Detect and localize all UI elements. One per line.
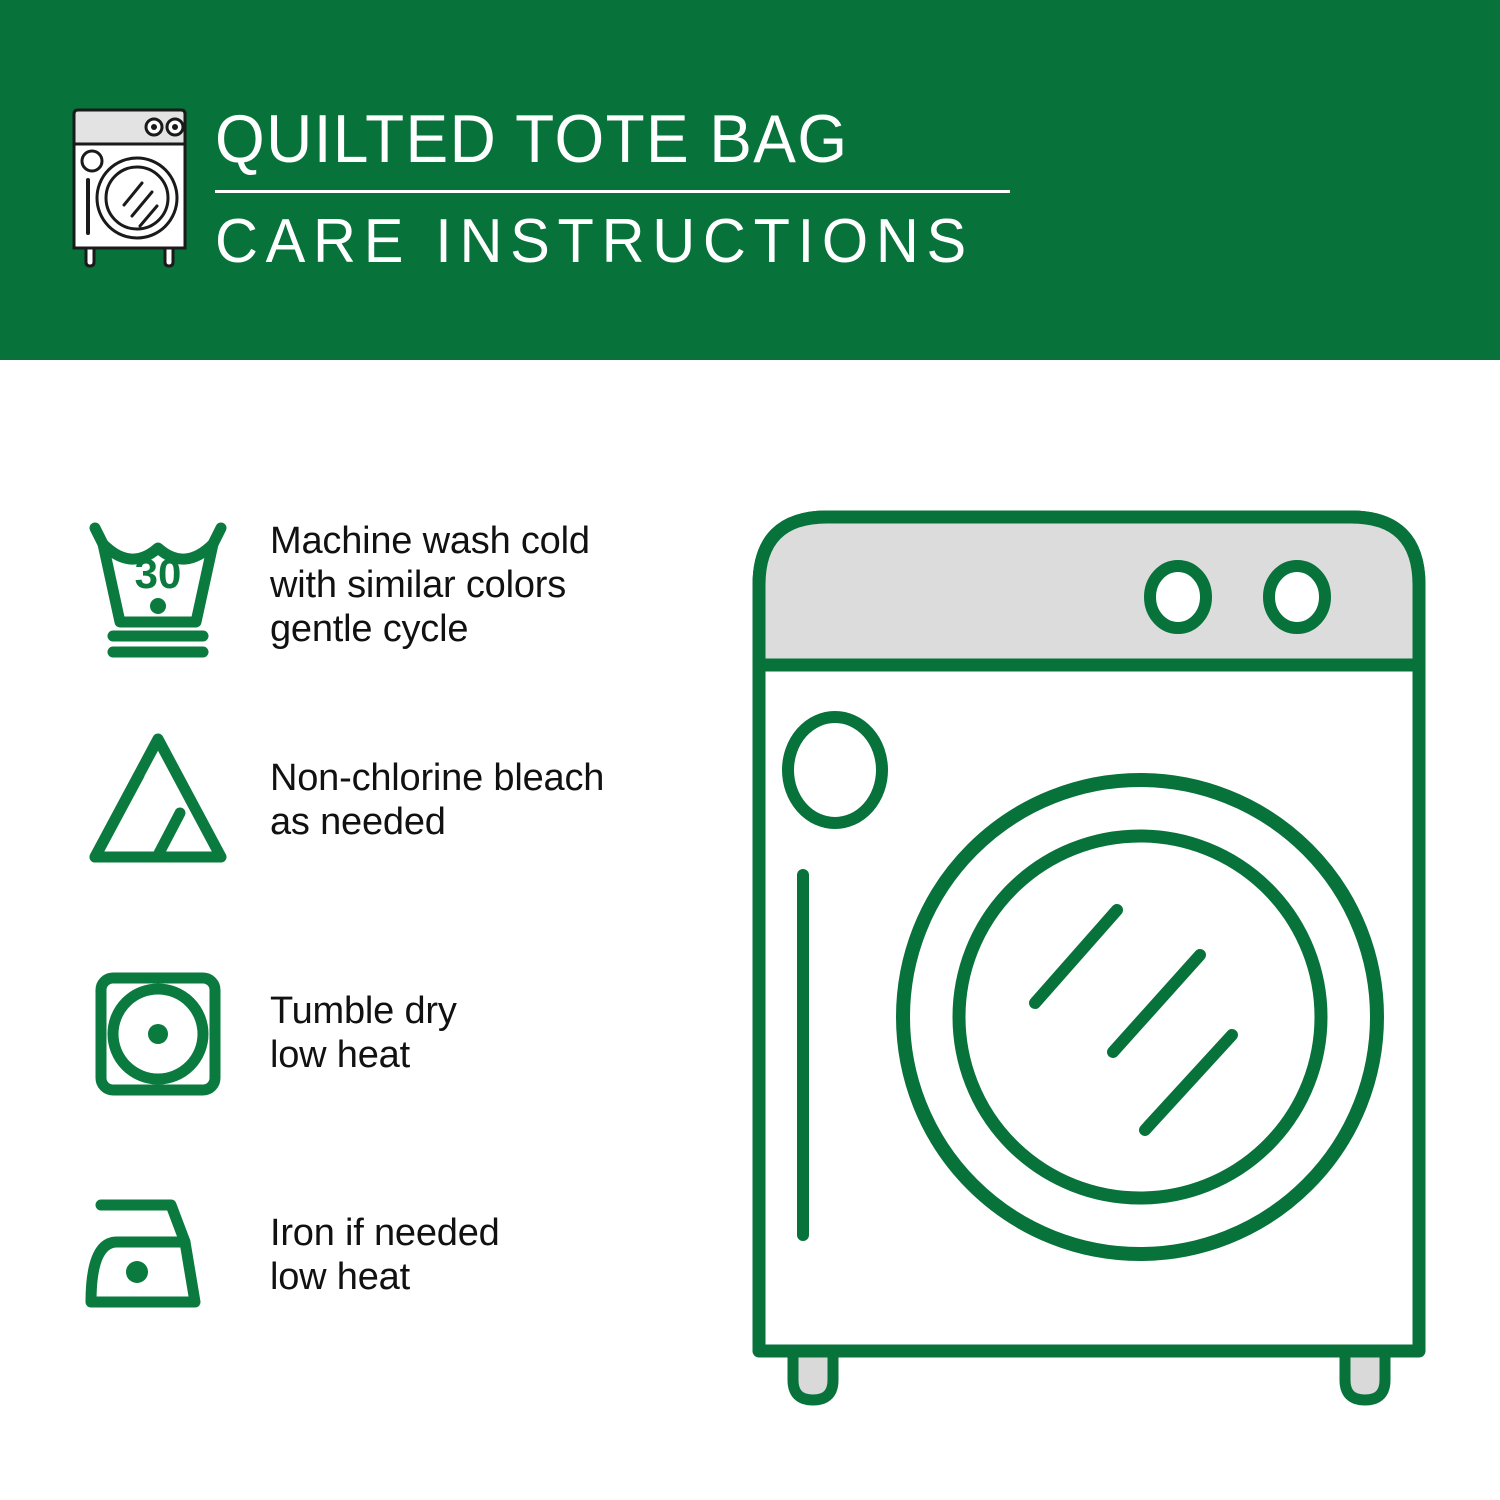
washing-machine-icon bbox=[62, 108, 197, 268]
title-divider bbox=[215, 190, 1010, 193]
machine-knob-2 bbox=[1269, 566, 1325, 628]
header-banner: QUILTED TOTE BAG CARE INSTRUCTIONS bbox=[0, 0, 1500, 360]
page-subtitle: CARE INSTRUCTIONS bbox=[215, 207, 993, 277]
care-text-bleach: Non-chlorine bleach as needed bbox=[270, 756, 604, 844]
care-row-tumble-dry: Tumble dry low heat bbox=[70, 958, 720, 1108]
care-line: gentle cycle bbox=[270, 607, 590, 651]
machine-dial bbox=[788, 717, 882, 823]
care-line: low heat bbox=[270, 1255, 500, 1299]
care-row-machine-wash: 30 Machine wash cold with similar colors… bbox=[70, 510, 720, 660]
care-text-tumble-dry: Tumble dry low heat bbox=[270, 989, 457, 1077]
machine-knob-1 bbox=[1150, 566, 1206, 628]
care-line: low heat bbox=[270, 1033, 457, 1077]
care-line: Machine wash cold bbox=[270, 519, 590, 563]
care-text-iron: Iron if needed low heat bbox=[270, 1211, 500, 1299]
tumble-dry-low-icon bbox=[70, 958, 245, 1108]
care-line: as needed bbox=[270, 800, 604, 844]
care-row-iron: Iron if needed low heat bbox=[70, 1180, 720, 1330]
care-row-bleach: Non-chlorine bleach as needed bbox=[70, 725, 720, 875]
iron-low-heat-icon bbox=[70, 1180, 245, 1330]
page-title: QUILTED TOTE BAG bbox=[215, 100, 976, 178]
dry-dot-icon bbox=[148, 1024, 168, 1044]
wash-temperature-label: 30 bbox=[134, 550, 181, 597]
care-instructions-page: QUILTED TOTE BAG CARE INSTRUCTIONS 30 bbox=[0, 0, 1500, 1500]
care-text-machine-wash: Machine wash cold with similar colors ge… bbox=[270, 519, 590, 651]
care-line: with similar colors bbox=[270, 563, 590, 607]
care-line: Iron if needed bbox=[270, 1211, 500, 1255]
care-line: Non-chlorine bleach bbox=[270, 756, 604, 800]
washing-machine-illustration bbox=[745, 495, 1445, 1425]
wash-tub-30-icon: 30 bbox=[70, 510, 245, 660]
header-text-block: QUILTED TOTE BAG CARE INSTRUCTIONS bbox=[215, 100, 1025, 277]
care-line: Tumble dry bbox=[270, 989, 457, 1033]
iron-dot-icon bbox=[126, 1261, 148, 1283]
bleach-triangle-stripes-icon bbox=[70, 725, 245, 875]
wash-dot-icon bbox=[150, 598, 166, 614]
